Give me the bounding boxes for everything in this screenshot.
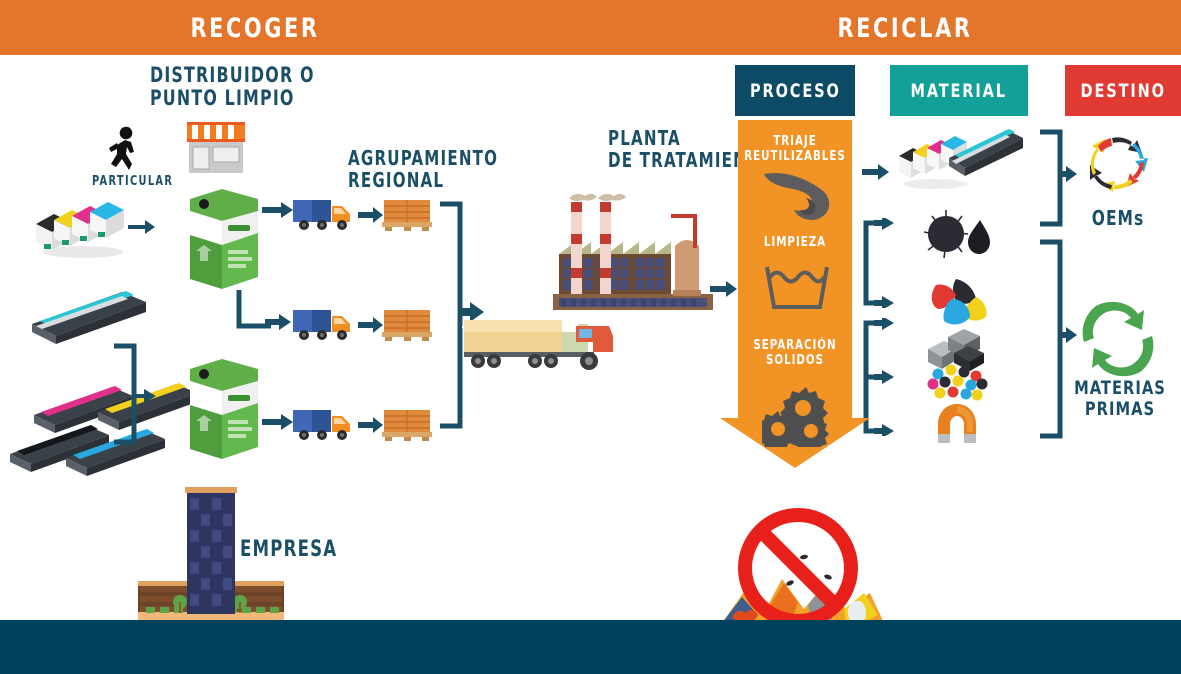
bottom-banner: [0, 620, 1181, 674]
pallet-icon-1: [382, 198, 432, 232]
flow-arrow-truck-pallet-2: [358, 315, 384, 335]
bin-link-connector: [235, 290, 295, 340]
toner-cartridge-cyan-icon: [26, 290, 151, 350]
destination-oems-label: OEMs: [1084, 207, 1153, 229]
magnet-icon: [934, 402, 980, 446]
column-header-destino-label: DESTINO: [1080, 80, 1165, 102]
particular-label: PARTICULAR: [92, 175, 173, 189]
delivery-truck-icon-3: [292, 406, 354, 442]
washing-basin-icon: [764, 263, 830, 311]
column-header-material-label: MATERIAL: [911, 80, 1007, 102]
plastic-pellets-icon: [926, 364, 988, 402]
recycling-bin-icon-1: [180, 185, 264, 295]
banner-title-recoger: RECOGER: [139, 13, 371, 44]
process-step-3-label: SEPARACIÓN SOLIDOS: [729, 339, 861, 368]
distributor-label: DISTRIBUIDOR O PUNTO LIMPIO: [150, 64, 315, 109]
column-header-proceso: PROCESO: [735, 65, 855, 116]
inkjet-cartridges-icon: [28, 200, 128, 260]
treatment-plant-icon: [553, 190, 713, 315]
banner-title-reciclar: RECICLAR: [789, 13, 1021, 44]
column-header-destino: DESTINO: [1065, 65, 1181, 116]
company-label: EMPRESA: [240, 538, 337, 562]
infographic-canvas: RECOGER RECICLAR PROCESO MATERIAL DESTIN…: [0, 0, 1181, 674]
flow-arrow-icon: [128, 217, 156, 237]
no-landfill-prohibition-icon: [712, 505, 887, 623]
storefront-icon: [185, 120, 247, 175]
process-steps-container: TRIAJE REUTILIZABLES LIMPIEZA SEPARACIÓN…: [720, 123, 870, 468]
delivery-truck-icon-2: [292, 306, 354, 342]
delivery-truck-icon-1: [292, 196, 354, 232]
pallet-icon-3: [382, 408, 432, 442]
cmyk-pigment-icon: [922, 275, 990, 329]
process-step-2-label: LIMPIEZA: [729, 236, 861, 251]
cmyk-recycle-ring-icon: [1082, 128, 1154, 200]
flow-arrow-bin-truck-1: [262, 199, 294, 221]
green-recycle-arrows-icon: [1082, 300, 1154, 378]
ink-splatter-drop-icon: [920, 208, 992, 263]
flow-arrow-truck-pallet-3: [358, 415, 384, 435]
hand-sorting-icon: [762, 168, 834, 224]
process-step-1-label: TRIAJE REUTILIZABLES: [729, 135, 861, 164]
walking-person-icon: [105, 126, 147, 172]
column-header-proceso-label: PROCESO: [750, 80, 841, 102]
oem-destination-bracket: [1036, 128, 1078, 228]
toner-group-bracket: [110, 342, 160, 447]
semi-truck-icon: [462, 312, 617, 374]
pallet-icon-2: [382, 308, 432, 342]
column-header-material: MATERIAL: [890, 65, 1028, 116]
recycling-bin-icon-2: [180, 355, 264, 465]
destination-raw-materials-label: MATERIAS PRIMAS: [1073, 378, 1168, 420]
raw-materials-destination-bracket: [1036, 238, 1078, 440]
regional-grouping-label: AGRUPAMIENTO REGIONAL: [348, 148, 498, 191]
cartridge-and-toner-icon: [895, 128, 1025, 194]
flow-arrow-bin-truck-3: [262, 411, 294, 433]
spacer-icon: [452, 300, 462, 310]
flow-arrow-truck-pallet-1: [358, 205, 384, 225]
gears-icon: [762, 385, 836, 447]
